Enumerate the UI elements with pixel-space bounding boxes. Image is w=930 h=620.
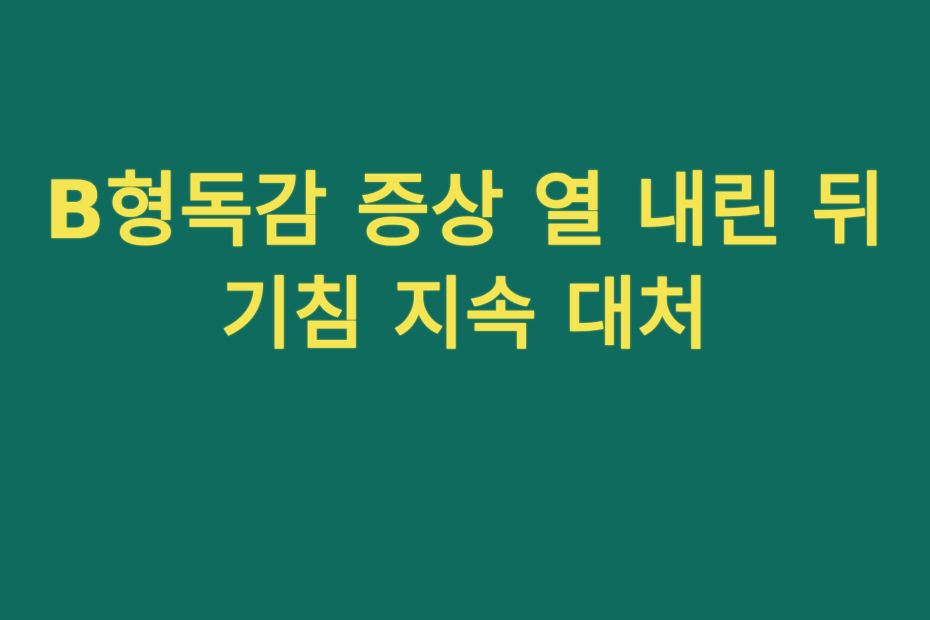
banner-canvas: B형독감 증상 열 내린 뒤 기침 지속 대처 [0,0,930,620]
headline-line-1: B형독감 증상 열 내린 뒤 [44,158,886,263]
headline-line-2: 기침 지속 대처 [221,263,710,368]
headline-text-block: B형독감 증상 열 내린 뒤 기침 지속 대처 [0,158,930,368]
